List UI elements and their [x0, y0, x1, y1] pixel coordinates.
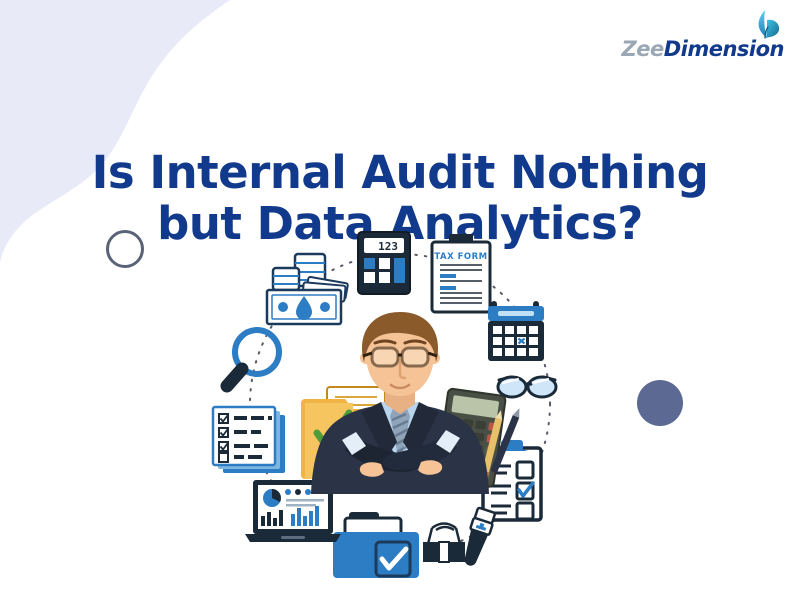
tax-form-clipboard-icon: TAX FORM — [432, 234, 490, 312]
internal-audit-data-analytics-illustration: 123 TAX FORM — [195, 222, 605, 592]
filled-circle — [637, 380, 683, 426]
svg-text:TAX FORM: TAX FORM — [434, 252, 487, 262]
calendar-icon — [488, 301, 544, 361]
checklist-document-icon — [213, 407, 285, 473]
eyeglasses-icon — [498, 377, 556, 397]
butterfly-leaf-icon — [748, 8, 782, 42]
money-cash-icon — [267, 254, 348, 324]
logo-text-light: Zee — [622, 37, 664, 61]
folder-check-icon — [333, 512, 419, 578]
binder-clip-icon — [423, 524, 465, 563]
magnifying-glass-icon — [227, 330, 279, 386]
calculator-icon: 123 — [358, 232, 410, 294]
brand-logo[interactable]: ZeeDimension — [622, 12, 785, 60]
title-line-1: Is Internal Audit Nothing — [92, 146, 709, 199]
svg-text:123: 123 — [378, 240, 398, 253]
poster-canvas: ZeeDimension Is Internal Audit Nothing b… — [0, 0, 800, 600]
